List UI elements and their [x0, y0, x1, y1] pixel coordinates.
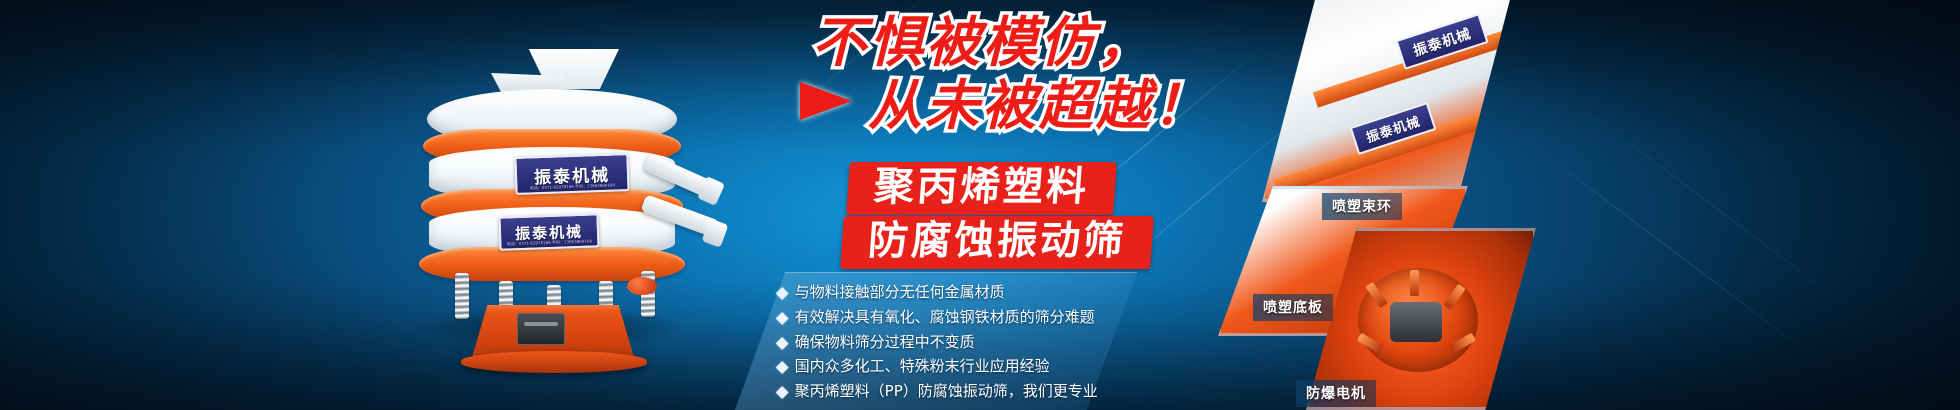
diamond-icon [776, 312, 789, 325]
brand-plaque-lower: 振泰机械 电话：0371-63978166 手机：13663860168 [498, 213, 599, 250]
motor-fin [1443, 284, 1465, 310]
motor-fin [1357, 333, 1384, 354]
promo-banner: 振泰机械 电话：0371-63978166 手机：13663860168 振泰机… [0, 0, 1960, 410]
thumbnail-clamp-ring: 振泰机械 振泰机械 [1262, 0, 1512, 202]
feature-text: 聚丙烯塑料（PP）防腐蚀振动筛，我们更专业 [795, 382, 1098, 401]
motor-fin [1449, 333, 1476, 354]
motor-hub [1390, 302, 1442, 342]
list-item: 国内众多化工、特殊粉末行业应用经验 [778, 357, 1112, 376]
feature-text: 有效解决具有氧化、腐蚀钢铁材质的筛分难题 [795, 308, 1095, 327]
feature-list: 与物料接触部分无任何金属材质 有效解决具有氧化、腐蚀钢铁材质的筛分难题 确保物料… [778, 283, 1112, 401]
feature-list-panel: 与物料接触部分无任何金属材质 有效解决具有氧化、腐蚀钢铁材质的筛分难题 确保物料… [735, 272, 1137, 410]
feature-text: 确保物料筛分过程中不变质 [795, 333, 975, 352]
clamp-ring-band [1273, 109, 1497, 195]
subtitle-bar-2: 防腐蚀振动筛 [840, 216, 1154, 269]
brand-plaque-upper: 振泰机械 电话：0371-63978166 手机：13663860168 [514, 153, 629, 195]
base-plate [461, 351, 647, 373]
motor-housing [1358, 268, 1478, 372]
diamond-icon [776, 361, 789, 374]
damping-spring [455, 273, 469, 319]
spring-mount-cap [627, 277, 657, 295]
thumbnail-brand-plaque: 振泰机械 [1395, 13, 1488, 70]
subtitle-text-1: 聚丙烯塑料 [873, 167, 1091, 207]
diamond-icon [776, 337, 789, 350]
thumbnail-caption-3: 防爆电机 [1296, 380, 1376, 407]
motor-fin [1410, 270, 1419, 296]
subtitle-text-2: 防腐蚀振动筛 [867, 221, 1128, 261]
thumbnail-caption-1: 喷塑束环 [1322, 193, 1402, 220]
diamond-icon [776, 287, 789, 300]
thumbnail-caption-2: 喷塑底板 [1253, 294, 1333, 321]
product-image-vibrating-sieve: 振泰机械 电话：0371-63978166 手机：13663860168 振泰机… [395, 55, 715, 355]
list-item: 确保物料筛分过程中不变质 [778, 333, 1112, 352]
motor-terminal-box [517, 313, 565, 345]
list-item: 聚丙烯塑料（PP）防腐蚀振动筛，我们更专业 [778, 382, 1112, 401]
thumbnail-brand-plaque: 振泰机械 [1350, 102, 1437, 155]
feature-text: 与物料接触部分无任何金属材质 [795, 283, 1005, 302]
subtitle-bar-1: 聚丙烯塑料 [846, 162, 1117, 215]
clamp-ring-band [1313, 24, 1512, 107]
motor-fin [1365, 282, 1387, 308]
diamond-icon [776, 386, 789, 399]
feature-text: 国内众多化工、特殊粉末行业应用经验 [795, 357, 1050, 376]
triangle-right-icon [800, 82, 852, 120]
list-item: 与物料接触部分无任何金属材质 [778, 283, 1112, 302]
list-item: 有效解决具有氧化、腐蚀钢铁材质的筛分难题 [778, 308, 1112, 327]
